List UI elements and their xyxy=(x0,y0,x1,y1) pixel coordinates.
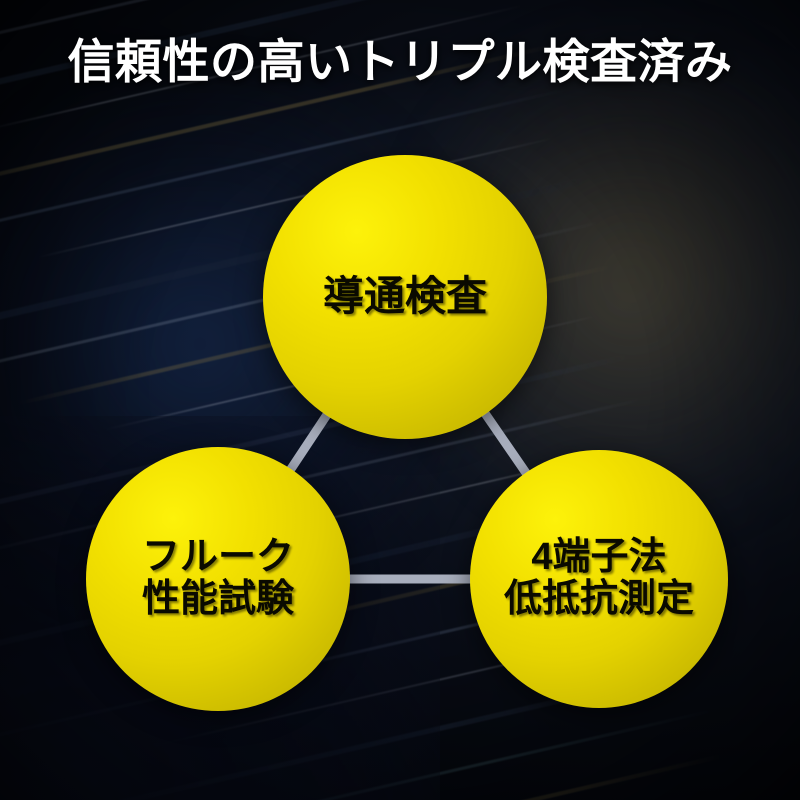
node-four-terminal-low-resistance-label: 4端子法 低抵抗測定 xyxy=(496,537,702,621)
node-line: 導通検査 xyxy=(323,274,487,319)
node-line: 低抵抗測定 xyxy=(504,579,694,621)
node-line: フルーク xyxy=(142,537,294,579)
node-line: 4端子法 xyxy=(504,537,694,579)
connector-top-to-left xyxy=(288,410,330,474)
node-fluke-performance-test[interactable]: フルーク 性能試験 xyxy=(86,447,350,711)
node-four-terminal-low-resistance[interactable]: 4端子法 低抵抗測定 xyxy=(470,450,728,708)
diagram-canvas: 信頼性の高いトリプル検査済み 導通検査 フルーク 性能試験 4端子法 低抵抗測定 xyxy=(0,0,800,800)
node-fluke-performance-test-label: フルーク 性能試験 xyxy=(134,537,302,621)
node-continuity-test-label: 導通検査 xyxy=(315,274,495,319)
node-continuity-test[interactable]: 導通検査 xyxy=(263,155,547,439)
node-line: 性能試験 xyxy=(142,579,294,621)
connector-top-to-right xyxy=(482,409,529,478)
